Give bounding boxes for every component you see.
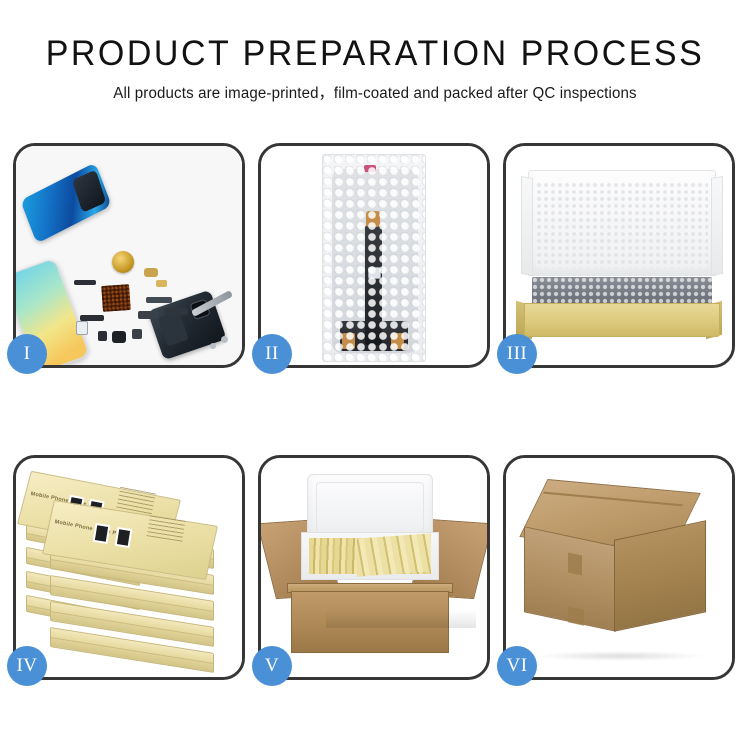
process-step-panel-5: V <box>258 455 490 680</box>
box-product-photo-icon <box>93 523 111 544</box>
spare-part-icon <box>164 308 188 315</box>
carton-front-face-icon <box>291 591 449 653</box>
carton-shadow <box>536 651 704 661</box>
screw-icon <box>221 336 228 343</box>
panel-2-image <box>261 146 487 365</box>
carton-side-face-icon <box>614 520 706 632</box>
spare-part-icon <box>132 329 142 339</box>
carton-tape-icon <box>568 606 584 625</box>
carton-shadow <box>326 610 476 628</box>
step-badge-2: II <box>252 334 292 374</box>
foam-sheet-icon <box>536 182 708 268</box>
packed-boxes-icon <box>357 533 431 576</box>
product-preparation-process-page: PRODUCT PREPARATION PROCESS All products… <box>0 0 750 750</box>
spare-part-icon <box>156 280 167 287</box>
retail-box-stack: Mobile Phone Spare Parts Mobile Phone Sp… <box>20 470 242 670</box>
spare-part-icon <box>144 268 158 277</box>
page-subtitle: All products are image-printed，film-coat… <box>6 84 745 104</box>
box-product-photo-icon <box>115 527 133 548</box>
step-badge-4: IV <box>7 646 47 686</box>
process-step-panel-1: I <box>13 143 245 368</box>
process-step-panel-2: II <box>258 143 490 368</box>
spare-part-icon <box>138 311 158 319</box>
step-badge-5: V <box>252 646 292 686</box>
panel-4-image: Mobile Phone Spare Parts Mobile Phone Sp… <box>16 458 242 677</box>
page-header: PRODUCT PREPARATION PROCESS All products… <box>0 0 750 104</box>
step-badge-3: III <box>497 334 537 374</box>
process-step-panel-6: VI <box>503 455 735 680</box>
step-badge-1: I <box>7 334 47 374</box>
process-step-grid: I II <box>13 143 737 680</box>
gold-round-part-icon <box>112 251 134 273</box>
carton-tape-icon <box>568 553 582 576</box>
process-step-panel-3: III <box>503 143 735 368</box>
panel-3-image <box>506 146 732 365</box>
page-title: PRODUCT PREPARATION PROCESS <box>11 33 739 75</box>
screw-icon <box>210 343 216 349</box>
copper-mesh-part-icon <box>101 284 131 312</box>
spare-part-icon <box>112 331 126 343</box>
spare-part-icon <box>98 331 107 341</box>
connector-board-icon <box>340 321 408 351</box>
panel-1-image <box>16 146 242 365</box>
bubble-wrap-bag-icon <box>322 154 426 362</box>
process-step-panel-4: Mobile Phone Spare Parts Mobile Phone Sp… <box>13 455 245 680</box>
spare-part-icon <box>76 321 88 335</box>
panel-6-image <box>506 458 732 677</box>
spare-part-icon <box>74 280 96 285</box>
kraft-tray-front-icon <box>524 303 720 337</box>
panel-5-image <box>261 458 487 677</box>
pink-label-icon <box>364 165 376 172</box>
step-badge-6: VI <box>497 646 537 686</box>
spare-part-icon <box>146 297 172 303</box>
ic-chip-icon <box>368 267 381 279</box>
